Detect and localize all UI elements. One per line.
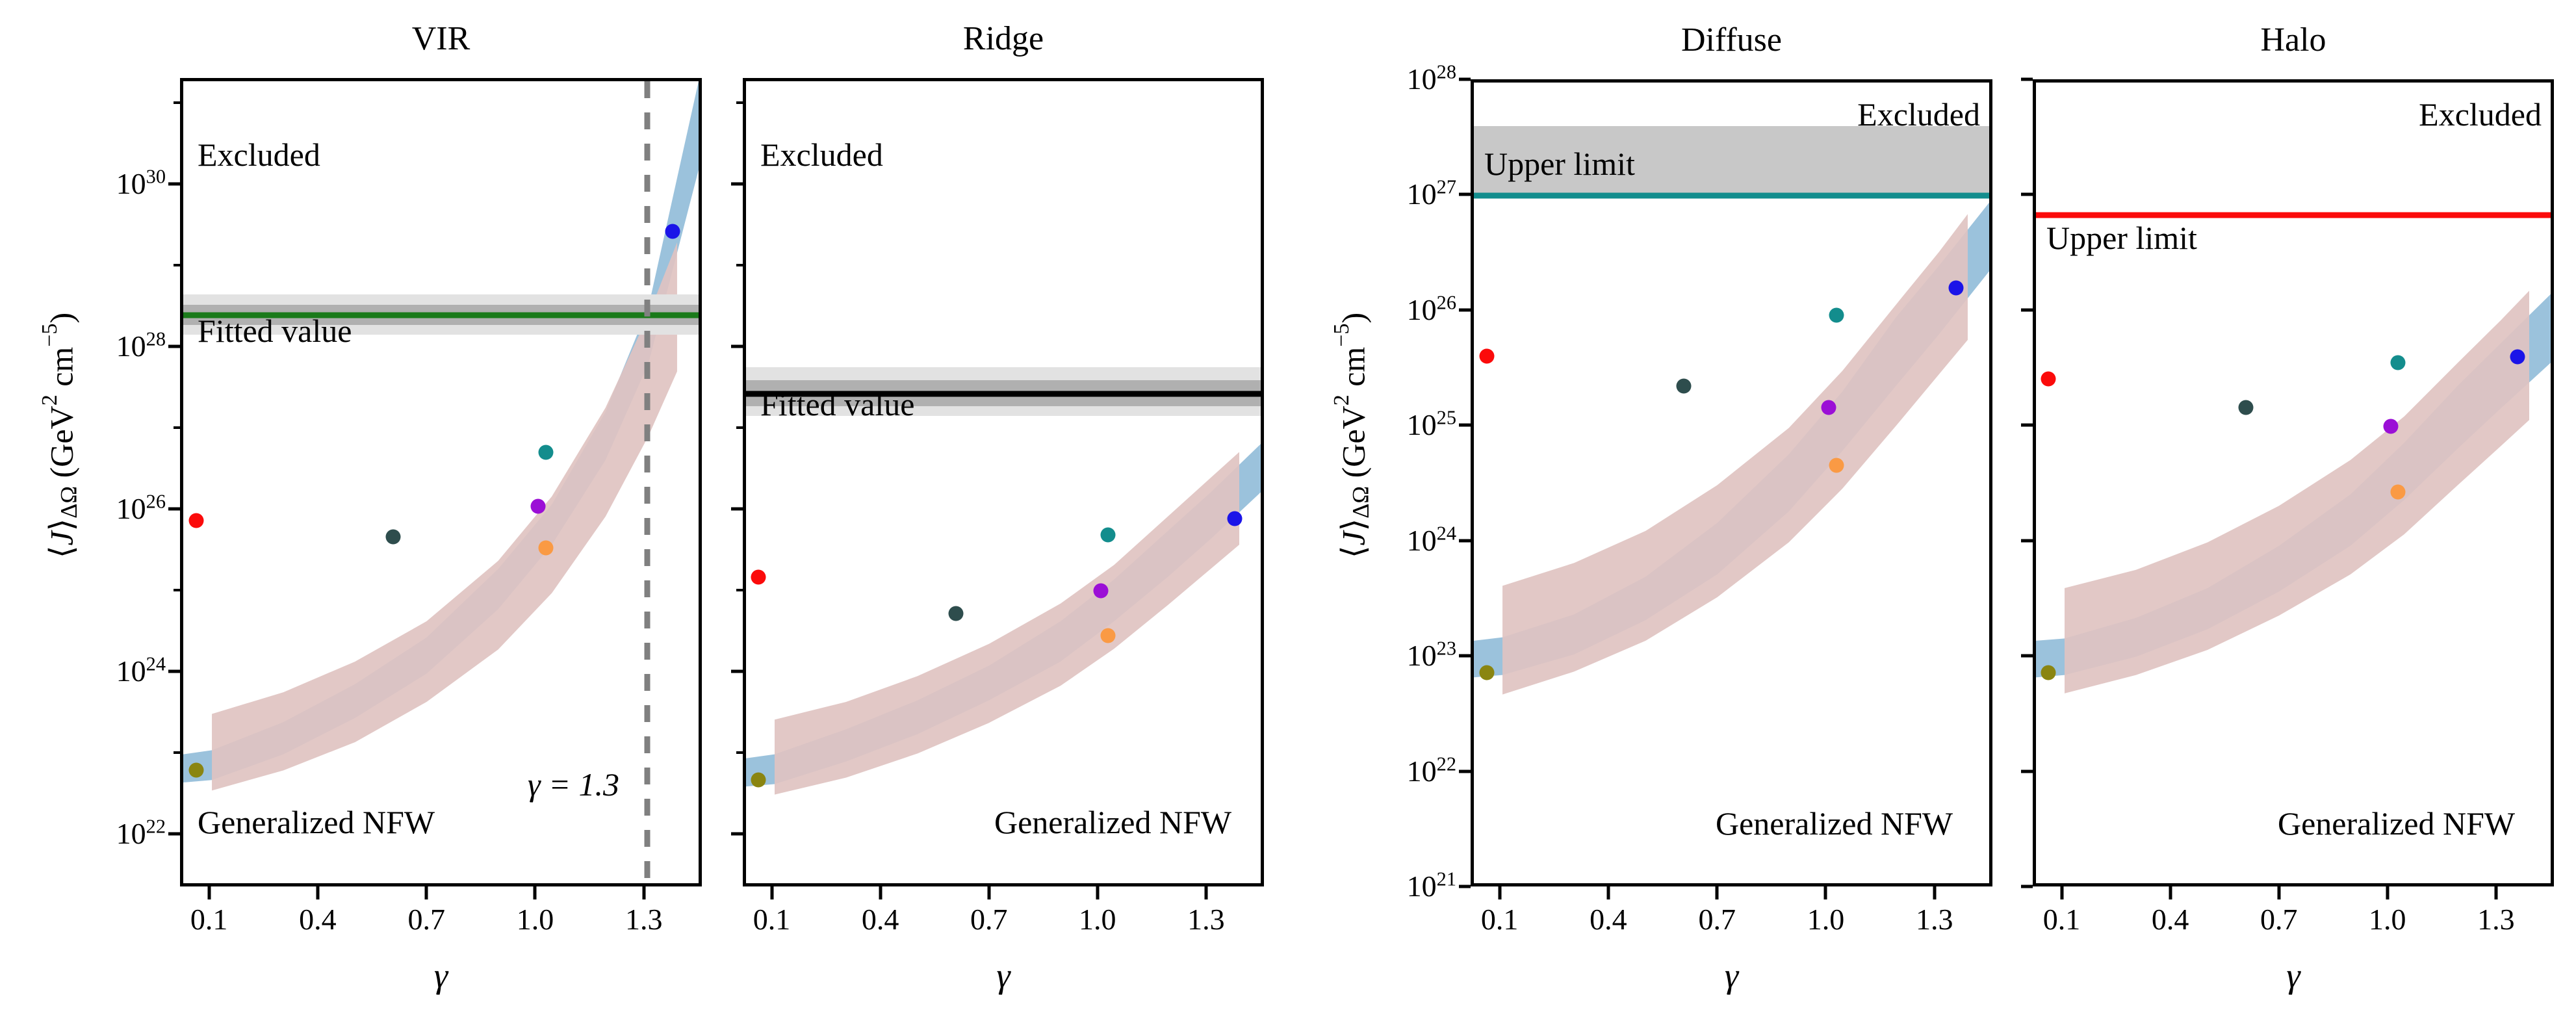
y-axis-label-text: ⟨J⟩ΔΩ (GeV2 cm−5) [44, 313, 80, 558]
y-tick-mark [731, 182, 743, 185]
y-axis-label-text-2: ⟨J⟩ΔΩ (GeV2 cm−5) [1335, 313, 1372, 558]
annotation-excluded-vir: Excluded [198, 138, 320, 171]
y-tick-mark [2021, 308, 2033, 311]
annotation-profile-diffuse: Generalized NFW [1716, 807, 1953, 840]
panel-title-ridge: Ridge [743, 22, 1264, 56]
y-tick-mark-minor [736, 426, 743, 429]
x-tick-mark [1933, 886, 1936, 899]
x-tick-label: 0.4 [862, 905, 899, 935]
y-tick-label: 1023 [1407, 641, 1456, 671]
x-tick-label: 0.4 [299, 905, 337, 935]
x-tick-label: 0.7 [407, 905, 445, 935]
y-tick-mark [731, 507, 743, 510]
y-tick-mark [2021, 424, 2033, 427]
x-tick-mark [1606, 886, 1610, 899]
model-bands-halo [2036, 83, 2551, 883]
panel-ridge: Ridge Excluded Fitted value Generalized … [743, 78, 1264, 886]
y-tick-label: 1027 [1407, 179, 1456, 209]
y-tick-label: 1026 [1407, 295, 1456, 325]
data-point-orange [1100, 628, 1115, 643]
x-tick-mark [2494, 886, 2497, 899]
y-tick-label: 1025 [1407, 410, 1456, 440]
plot-area-ridge: Excluded Fitted value Generalized NFW [743, 78, 1264, 886]
data-point-darkslate [386, 530, 401, 545]
data-point-darkslate [2239, 400, 2254, 415]
plot-area-halo: Excluded Upper limit Generalized NFW [2033, 79, 2554, 886]
x-tick-label: 0.7 [1698, 905, 1736, 935]
y-tick-mark [1459, 654, 1471, 658]
data-point-orange [538, 540, 553, 555]
annotation-upper-limit-diffuse: Upper limit [1484, 148, 1635, 180]
x-tick-mark [534, 886, 537, 899]
y-tick-mark [1459, 769, 1471, 773]
data-point-teal [2390, 355, 2405, 370]
y-tick-mark [731, 669, 743, 673]
data-point-orange [2390, 484, 2405, 499]
annotation-upper-limit-halo: Upper limit [2046, 222, 2197, 254]
x-tick-mark [770, 886, 773, 899]
y-tick-mark [2021, 78, 2033, 81]
x-tick-label: 0.7 [2260, 905, 2298, 935]
model-bands-ridge [746, 81, 1261, 883]
y-tick-mark [731, 344, 743, 348]
annotation-excluded-diffuse: Excluded [1857, 98, 1980, 131]
y-tick-label: 1022 [1407, 756, 1456, 786]
y-tick-mark [2021, 654, 2033, 658]
data-point-olive [751, 773, 766, 788]
x-tick-mark [2277, 886, 2280, 899]
y-tick-mark-minor [174, 751, 180, 754]
x-tick-mark [2169, 886, 2172, 899]
y-tick-mark [2021, 539, 2033, 542]
x-tick-label: 1.3 [1916, 905, 1953, 935]
x-tick-mark [207, 886, 211, 899]
panel-halo: Halo Excluded Upper limit Generalized NF… [2033, 79, 2554, 886]
data-point-teal [538, 445, 553, 460]
x-tick-mark [879, 886, 882, 899]
annotation-excluded-halo: Excluded [2419, 98, 2542, 131]
data-point-purple [1822, 400, 1836, 415]
panel-title-halo: Halo [2033, 23, 2554, 57]
x-tick-label: 1.3 [1187, 905, 1225, 935]
y-tick-mark [1459, 539, 1471, 542]
model-band-pink-band [775, 452, 1239, 794]
data-point-red [188, 513, 203, 528]
y-tick-mark [2021, 885, 2033, 888]
x-tick-mark [2060, 886, 2063, 899]
model-bands-diffuse [1474, 83, 1989, 883]
y-tick-label: 1021 [1407, 872, 1456, 901]
y-tick-label: 1024 [116, 656, 166, 686]
y-axis-label-left: ⟨J⟩ΔΩ (GeV2 cm−5) [34, 195, 85, 676]
plot-area-diffuse: Excluded Upper limit Generalized NFW [1471, 79, 1992, 886]
y-tick-mark-minor [736, 101, 743, 104]
y-tick-mark [168, 344, 180, 348]
y-tick-mark [1459, 885, 1471, 888]
data-point-red [2041, 371, 2056, 386]
x-tick-label: 0.1 [2043, 905, 2081, 935]
x-tick-mark [1204, 886, 1207, 899]
y-tick-mark [2021, 193, 2033, 196]
data-point-red [751, 569, 766, 584]
y-tick-mark-minor [736, 589, 743, 591]
y-tick-mark-minor [174, 101, 180, 104]
x-tick-mark [1096, 886, 1099, 899]
annotation-profile-ridge: Generalized NFW [994, 806, 1231, 838]
y-tick-mark [1459, 78, 1471, 81]
x-tick-label: 1.3 [2477, 905, 2515, 935]
y-tick-mark [168, 669, 180, 673]
x-tick-mark [425, 886, 428, 899]
y-tick-mark [168, 507, 180, 510]
x-axis-label-diffuse: γ [1471, 958, 1992, 993]
model-band-pink-band [2065, 291, 2529, 693]
data-point-olive [188, 763, 203, 778]
y-tick-mark-minor [174, 264, 180, 266]
y-tick-mark-minor [736, 264, 743, 266]
data-point-purple [1093, 583, 1108, 598]
data-point-olive [2041, 666, 2056, 680]
x-tick-mark [1498, 886, 1501, 899]
x-axis-label-halo: γ [2033, 958, 2554, 993]
plot-area-vir: Excluded Fitted value γ = 1.3 Generalize… [180, 78, 702, 886]
x-tick-mark [1716, 886, 1719, 899]
data-point-blue [1948, 280, 1963, 295]
x-tick-label: 1.0 [1807, 905, 1845, 935]
y-tick-mark-minor [174, 589, 180, 591]
gamma-reference-line-vir [644, 81, 650, 883]
data-point-red [1479, 348, 1494, 363]
x-tick-label: 1.0 [517, 905, 554, 935]
x-tick-label: 0.7 [970, 905, 1008, 935]
x-tick-label: 0.4 [1590, 905, 1627, 935]
model-band-pink-band [1502, 214, 1968, 694]
y-axis-label-right: ⟨J⟩ΔΩ (GeV2 cm−5) [1326, 195, 1377, 676]
y-tick-mark-minor [736, 751, 743, 754]
x-tick-label: 0.1 [753, 905, 791, 935]
data-point-olive [1479, 666, 1494, 680]
x-tick-label: 0.1 [1481, 905, 1519, 935]
data-point-purple [531, 498, 546, 513]
x-tick-label: 1.0 [1079, 905, 1116, 935]
x-axis-label-vir: γ [180, 958, 702, 993]
annotation-gamma-vir: γ = 1.3 [528, 768, 619, 801]
x-tick-mark [316, 886, 319, 899]
annotation-profile-halo: Generalized NFW [2278, 807, 2515, 840]
y-tick-mark [1459, 193, 1471, 196]
y-tick-mark [168, 182, 180, 185]
x-tick-mark [2386, 886, 2389, 899]
y-tick-mark-minor [174, 426, 180, 429]
x-tick-label: 1.0 [2369, 905, 2406, 935]
data-point-blue [665, 224, 680, 239]
annotation-excluded-ridge: Excluded [760, 138, 883, 171]
upper-limit-line-diffuse [1474, 192, 1989, 198]
y-tick-label: 1028 [116, 331, 166, 361]
multi-panel-figure: ⟨J⟩ΔΩ (GeV2 cm−5) ⟨J⟩ΔΩ (GeV2 cm−5) VIR … [0, 0, 2576, 1021]
data-point-darkslate [1677, 378, 1692, 393]
model-bands-vir [183, 81, 699, 883]
data-point-orange [1829, 458, 1844, 473]
annotation-fitted-value-vir: Fitted value [198, 315, 352, 347]
annotation-profile-vir: Generalized NFW [198, 806, 435, 838]
data-point-blue [1227, 511, 1242, 526]
y-tick-label: 1028 [1407, 64, 1456, 94]
y-tick-mark [1459, 424, 1471, 427]
panel-vir: VIR Excluded Fitted value γ = 1.3 Genera… [180, 78, 702, 886]
y-tick-mark [2021, 769, 2033, 773]
y-tick-mark [731, 832, 743, 835]
upper-limit-line-halo [2036, 213, 2551, 218]
x-tick-label: 0.1 [190, 905, 228, 935]
data-point-purple [2383, 419, 2398, 433]
y-tick-label: 1022 [116, 819, 166, 849]
x-tick-mark [987, 886, 990, 899]
y-tick-mark [1459, 308, 1471, 311]
data-point-teal [1829, 308, 1844, 323]
data-point-teal [1100, 527, 1115, 542]
panel-diffuse: Diffuse Excluded Upper limit Generalized… [1471, 79, 1992, 886]
y-tick-mark [168, 832, 180, 835]
panel-title-diffuse: Diffuse [1471, 23, 1992, 57]
y-tick-label: 1024 [1407, 526, 1456, 556]
annotation-fitted-value-ridge: Fitted value [760, 388, 914, 420]
x-tick-mark [1824, 886, 1827, 899]
x-tick-label: 0.4 [2152, 905, 2189, 935]
x-tick-label: 1.3 [625, 905, 663, 935]
y-tick-label: 1026 [116, 494, 166, 524]
x-tick-mark [642, 886, 645, 899]
panel-title-vir: VIR [180, 22, 702, 56]
data-point-blue [2510, 350, 2525, 365]
y-tick-label: 1030 [116, 169, 166, 199]
data-point-darkslate [949, 606, 964, 621]
x-axis-label-ridge: γ [743, 958, 1264, 993]
